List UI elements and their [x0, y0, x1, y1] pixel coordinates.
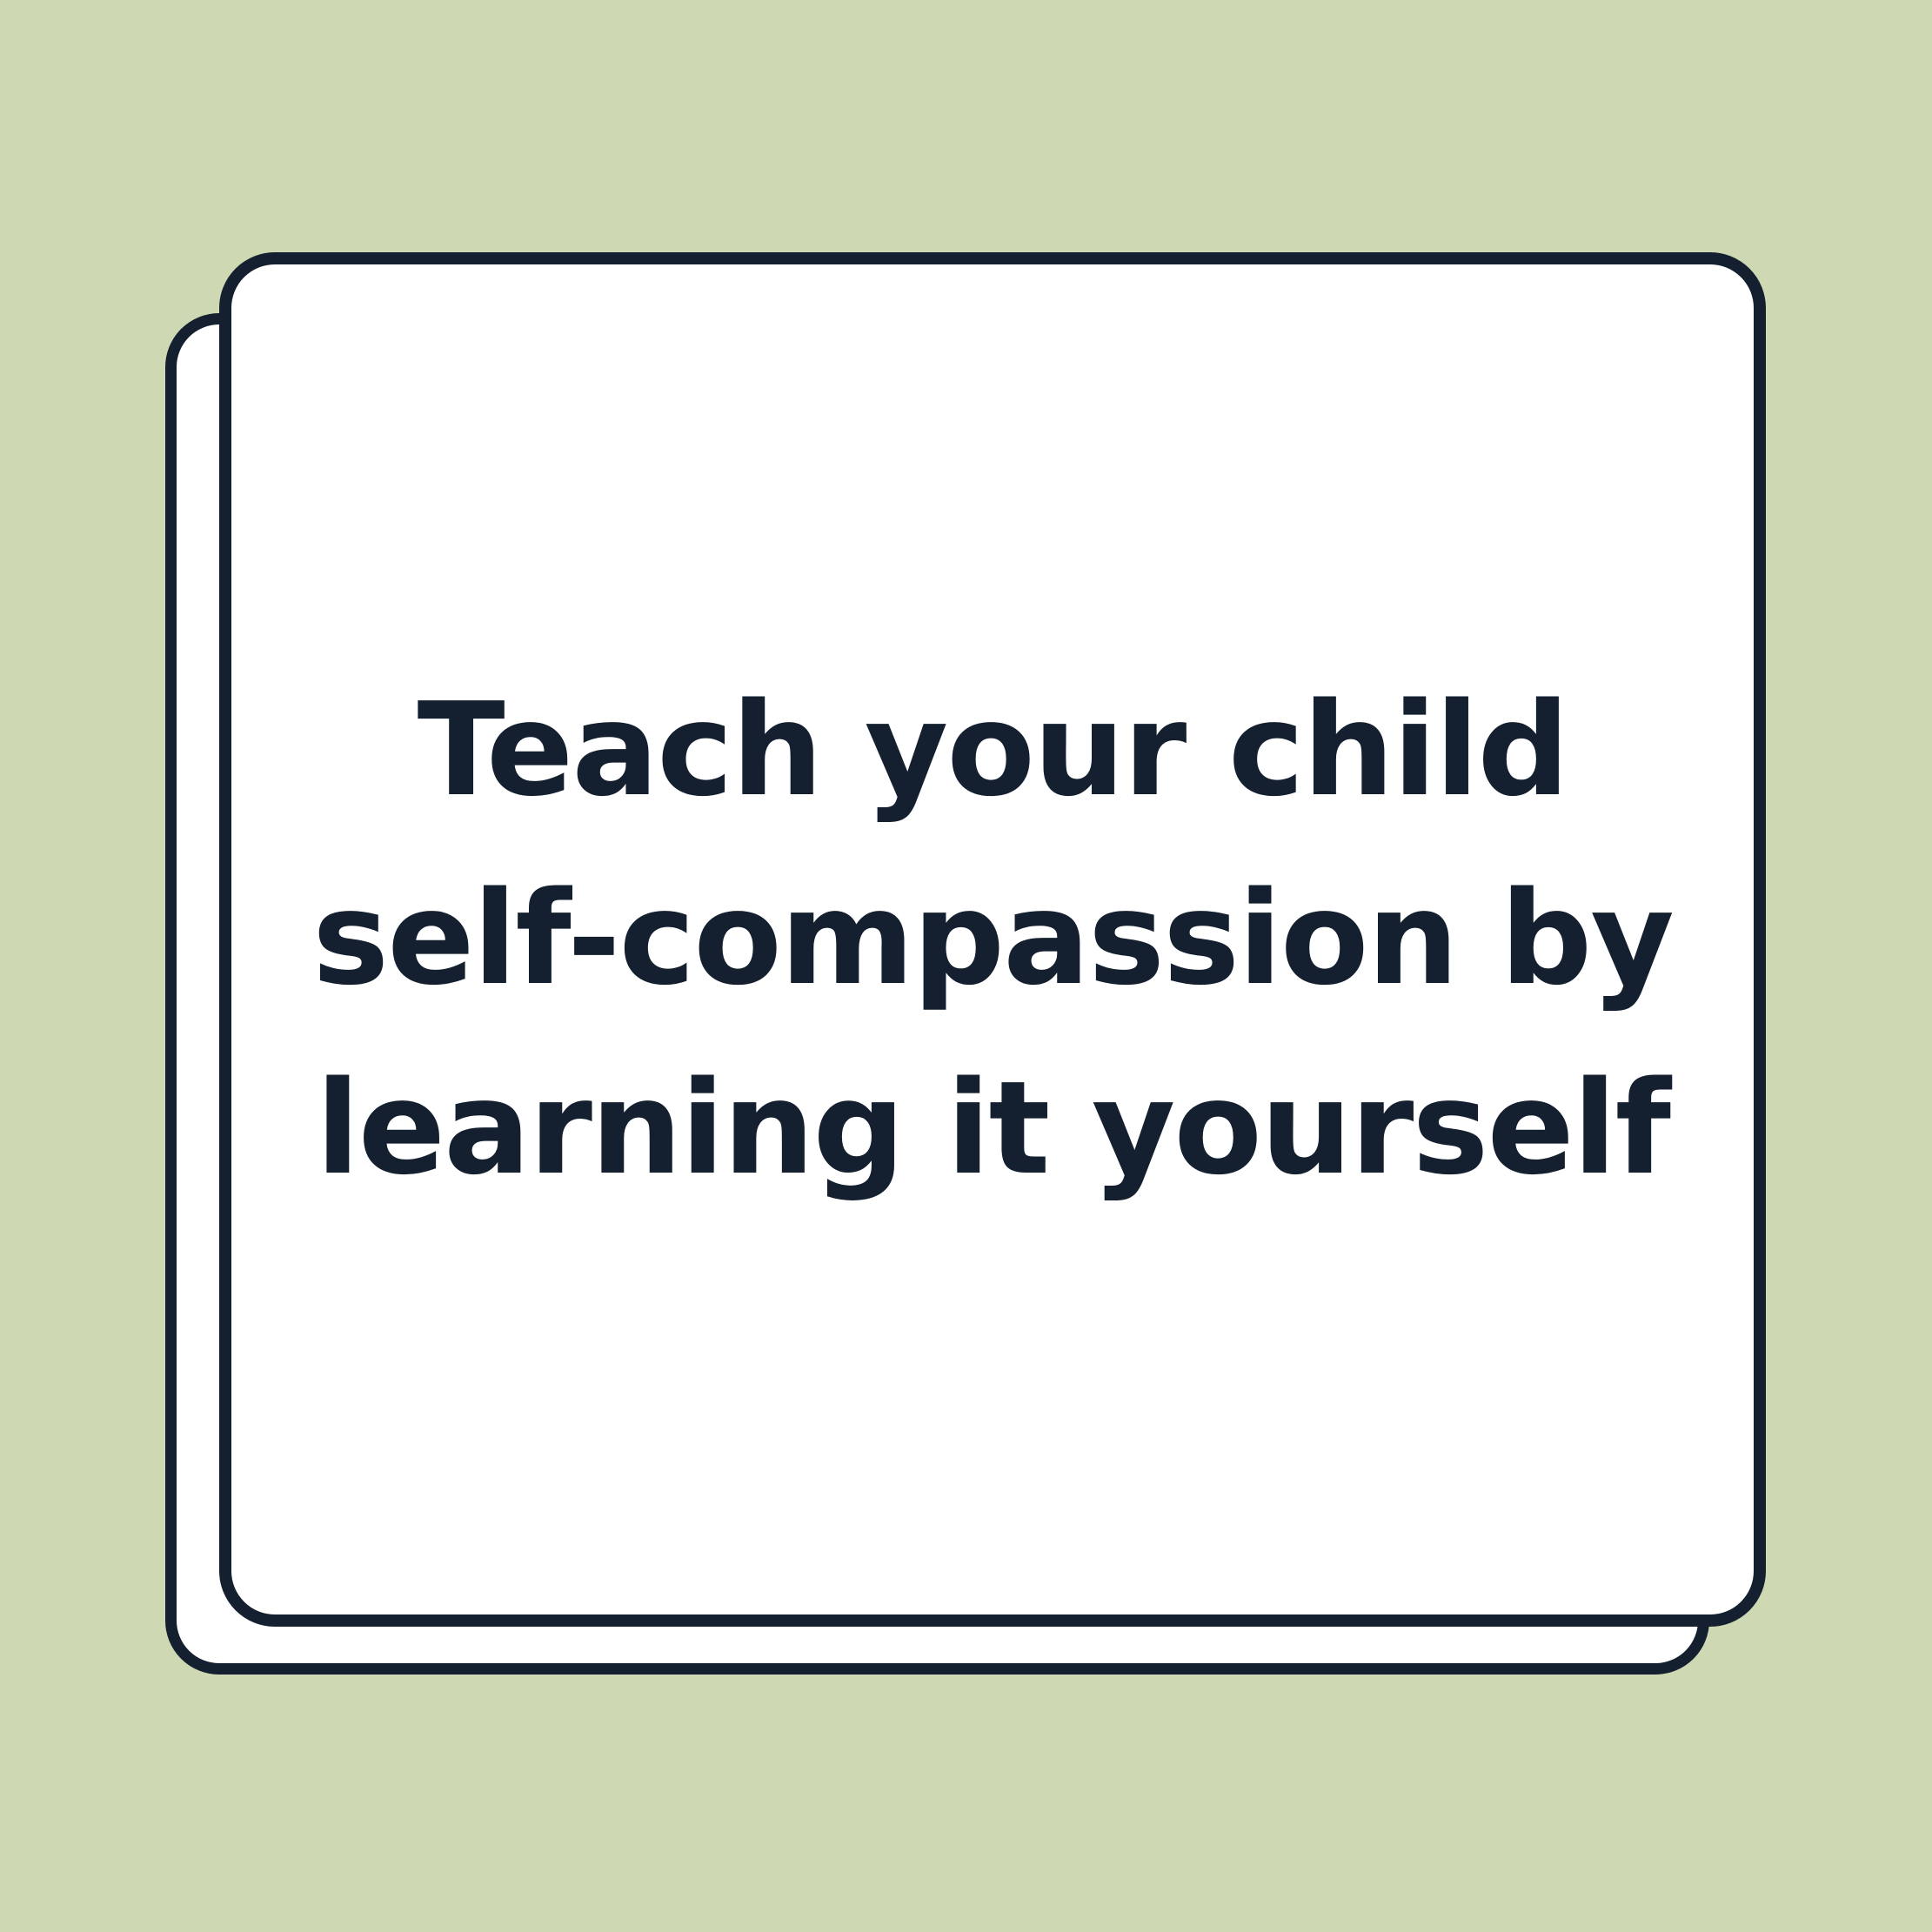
card-front: Teach your child self-compassion by lear… — [219, 252, 1766, 1627]
headline-line-2: self-compassion by — [266, 845, 1719, 1034]
page-title: Teach your child self-compassion by lear… — [231, 656, 1754, 1224]
canvas: Teach your child self-compassion by lear… — [0, 0, 1932, 1932]
headline-line-3: learning it yourself — [266, 1034, 1719, 1224]
headline-line-1: Teach your child — [266, 656, 1719, 846]
